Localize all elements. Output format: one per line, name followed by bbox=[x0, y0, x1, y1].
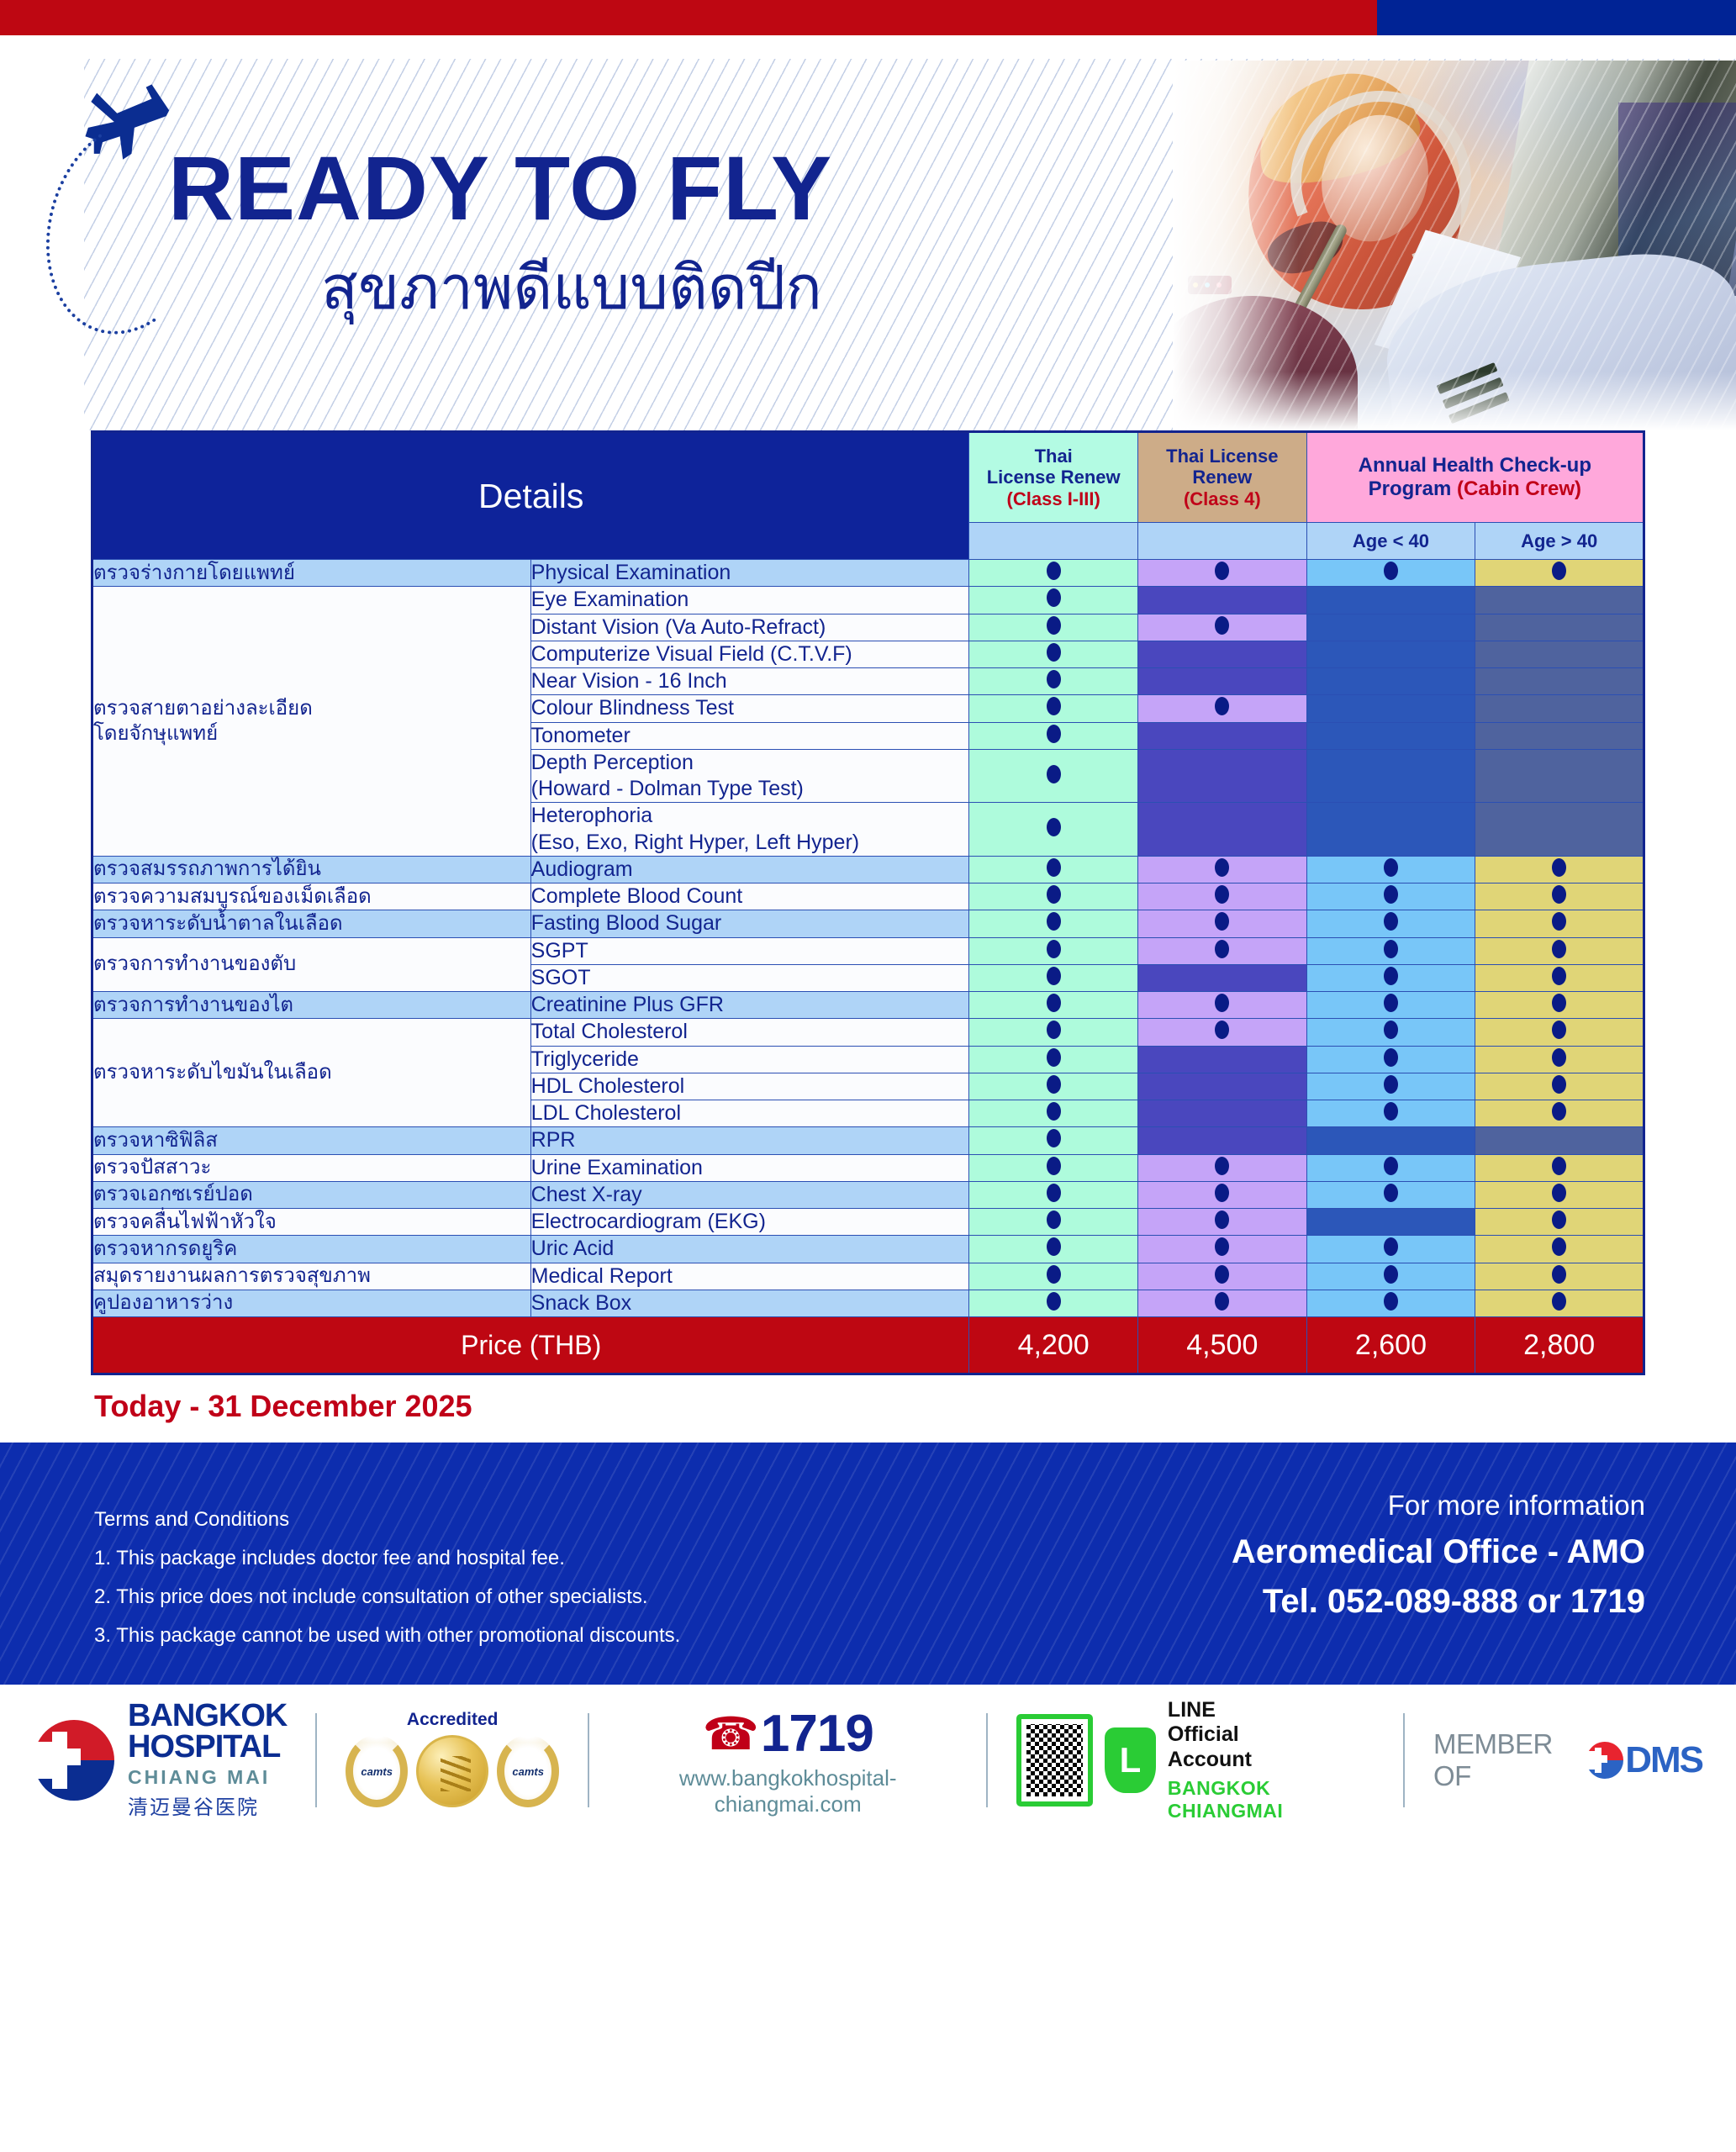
included-dot bbox=[969, 937, 1138, 964]
package-comparison-table: Details Thai License Renew (Class I-III)… bbox=[91, 430, 1645, 1375]
hospital-branch: CHIANG MAI bbox=[128, 1766, 287, 1789]
col-header-class1-3: Thai License Renew (Class I-III) bbox=[969, 432, 1138, 523]
included-dot bbox=[1138, 695, 1307, 722]
row-label-thai: ตรวจสายตาอย่างละเอียดโดยจักษุแพทย์ bbox=[92, 587, 531, 857]
row-label-thai: ตรวจการทำงานของไต bbox=[92, 992, 531, 1019]
not-included-cell bbox=[1306, 749, 1475, 803]
not-included-cell bbox=[1306, 1127, 1475, 1154]
price-age-over-40: 2,800 bbox=[1475, 1317, 1644, 1374]
not-included-cell bbox=[1138, 1127, 1307, 1154]
included-dot bbox=[1138, 992, 1307, 1019]
included-dot bbox=[969, 668, 1138, 695]
included-dot bbox=[969, 1046, 1138, 1073]
hospital-cross-icon bbox=[34, 1720, 114, 1801]
row-label-thai: ตรวจหากรดยูริค bbox=[92, 1236, 531, 1263]
included-dot bbox=[1306, 856, 1475, 883]
row-label-english: Heterophoria(Eso, Exo, Right Hyper, Left… bbox=[530, 803, 969, 857]
included-dot bbox=[1475, 1263, 1644, 1290]
included-dot bbox=[969, 695, 1138, 722]
row-label-english: Fasting Blood Sugar bbox=[530, 910, 969, 937]
included-dot bbox=[1138, 1209, 1307, 1236]
included-dot bbox=[1475, 560, 1644, 587]
phone-icon: ☎ bbox=[703, 1707, 759, 1760]
included-dot bbox=[969, 587, 1138, 614]
accredited-label: Accredited bbox=[407, 1710, 499, 1730]
included-dot bbox=[1475, 1154, 1644, 1181]
row-label-thai: ตรวจหาซิฟิลิส bbox=[92, 1127, 531, 1154]
included-dot bbox=[969, 749, 1138, 803]
terms-item: 2. This price does not include consultat… bbox=[94, 1585, 680, 1609]
page-subtitle-thai: สุขภาพดีแบบติดปีก bbox=[321, 256, 822, 322]
table-row: ตรวจการทำงานของตับSGPT bbox=[92, 937, 1644, 964]
table-row: ตรวจคลื่นไฟฟ้าหัวใจElectrocardiogram (EK… bbox=[92, 1209, 1644, 1236]
bdms-member-logo: MEMBER OF DMS bbox=[1433, 1728, 1702, 1792]
row-label-english: Physical Examination bbox=[530, 560, 969, 587]
col-header-class4: Thai License Renew (Class 4) bbox=[1138, 432, 1307, 523]
not-included-cell bbox=[1138, 722, 1307, 749]
table-row: ตรวจสายตาอย่างละเอียดโดยจักษุแพทย์Eye Ex… bbox=[92, 587, 1644, 614]
line-official-block[interactable]: L LINE Official Account BANGKOK CHIANGMA… bbox=[1016, 1698, 1375, 1823]
row-label-thai: ตรวจคลื่นไฟฟ้าหัวใจ bbox=[92, 1209, 531, 1236]
included-dot bbox=[1475, 1236, 1644, 1263]
hospital-name-line1: BANGKOK bbox=[128, 1701, 287, 1731]
col-subheader-blank-2 bbox=[1138, 523, 1307, 560]
top-color-bar bbox=[0, 0, 1736, 35]
included-dot bbox=[1475, 964, 1644, 991]
included-dot bbox=[1138, 1019, 1307, 1046]
row-label-english: HDL Cholesterol bbox=[530, 1073, 969, 1100]
included-dot bbox=[969, 1154, 1138, 1181]
included-dot bbox=[1306, 1100, 1475, 1127]
included-dot bbox=[1138, 883, 1307, 910]
included-dot bbox=[969, 1181, 1138, 1208]
line-label-line2: Official bbox=[1168, 1722, 1239, 1746]
row-label-english: LDL Cholesterol bbox=[530, 1100, 969, 1127]
footer-logo-strip: BANGKOK HOSPITAL CHIANG MAI 清迈曼谷医院 Accre… bbox=[0, 1685, 1736, 1836]
included-dot bbox=[1306, 1073, 1475, 1100]
included-dot bbox=[969, 1290, 1138, 1316]
included-dot bbox=[969, 992, 1138, 1019]
not-included-cell bbox=[1475, 614, 1644, 641]
included-dot bbox=[1138, 1236, 1307, 1263]
row-label-thai: ตรวจร่างกายโดยแพทย์ bbox=[92, 560, 531, 587]
row-label-english: Medical Report bbox=[530, 1263, 969, 1290]
office-name: Aeromedical Office - AMO bbox=[1232, 1533, 1645, 1571]
not-included-cell bbox=[1138, 964, 1307, 991]
row-label-thai: ตรวจหาระดับน้ำตาลในเลือด bbox=[92, 910, 531, 937]
hero-banner: READY TO FLY สุขภาพดีแบบติดปีก bbox=[0, 35, 1736, 430]
row-label-thai: สมุดรายงานผลการตรวจสุขภาพ bbox=[92, 1263, 531, 1290]
line-account-name: BANGKOK CHIANGMAI bbox=[1168, 1777, 1375, 1822]
included-dot bbox=[1306, 883, 1475, 910]
included-dot bbox=[1138, 1263, 1307, 1290]
package-table-wrap: Details Thai License Renew (Class I-III)… bbox=[0, 430, 1736, 1375]
row-label-thai: ตรวจสมรรถภาพการได้ยิน bbox=[92, 856, 531, 883]
included-dot bbox=[1475, 1181, 1644, 1208]
included-dot bbox=[969, 964, 1138, 991]
not-included-cell bbox=[1138, 1100, 1307, 1127]
table-row: ตรวจหาซิฟิลิสRPR bbox=[92, 1127, 1644, 1154]
included-dot bbox=[969, 641, 1138, 667]
not-included-cell bbox=[1138, 803, 1307, 857]
included-dot bbox=[1475, 883, 1644, 910]
pilot-photo bbox=[1173, 61, 1736, 430]
promotion-validity: Today - 31 December 2025 bbox=[0, 1375, 1736, 1424]
hotline-number[interactable]: 1719 bbox=[761, 1704, 873, 1764]
divider bbox=[986, 1713, 988, 1807]
included-dot bbox=[1475, 1209, 1644, 1236]
price-class4: 4,500 bbox=[1138, 1317, 1307, 1374]
included-dot bbox=[1138, 910, 1307, 937]
qr-code[interactable] bbox=[1016, 1714, 1093, 1807]
col-subheader-blank-1 bbox=[969, 523, 1138, 560]
table-row: ตรวจร่างกายโดยแพทย์Physical Examination bbox=[92, 560, 1644, 587]
not-included-cell bbox=[1475, 749, 1644, 803]
row-label-english: Near Vision - 16 Inch bbox=[530, 668, 969, 695]
not-included-cell bbox=[1475, 668, 1644, 695]
line-logo-icon: L bbox=[1105, 1727, 1156, 1793]
not-included-cell bbox=[1138, 749, 1307, 803]
footer-terms-contact: Terms and Conditions 1. This package inc… bbox=[0, 1443, 1736, 1685]
row-label-english: Urine Examination bbox=[530, 1154, 969, 1181]
included-dot bbox=[969, 883, 1138, 910]
price-class1-3: 4,200 bbox=[969, 1317, 1138, 1374]
bdms-wordmark: DMS bbox=[1625, 1739, 1702, 1781]
row-label-english: Electrocardiogram (EKG) bbox=[530, 1209, 969, 1236]
not-included-cell bbox=[1475, 722, 1644, 749]
row-label-thai: ตรวจความสมบูรณ์ของเม็ดเลือด bbox=[92, 883, 531, 910]
included-dot bbox=[969, 1100, 1138, 1127]
included-dot bbox=[1138, 856, 1307, 883]
not-included-cell bbox=[1475, 641, 1644, 667]
not-included-cell bbox=[1306, 614, 1475, 641]
row-label-english: Snack Box bbox=[530, 1290, 969, 1316]
hospital-name-chinese: 清迈曼谷医院 bbox=[128, 1791, 287, 1820]
row-label-english: Total Cholesterol bbox=[530, 1019, 969, 1046]
row-label-english: Audiogram bbox=[530, 856, 969, 883]
table-row: ตรวจเอกซเรย์ปอดChest X-ray bbox=[92, 1181, 1644, 1208]
terms-and-conditions: Terms and Conditions 1. This package inc… bbox=[94, 1508, 680, 1663]
row-label-thai: ตรวจเอกซเรย์ปอด bbox=[92, 1181, 531, 1208]
contact-block: For more information Aeromedical Office … bbox=[1232, 1490, 1645, 1632]
not-included-cell bbox=[1475, 1127, 1644, 1154]
row-label-english: Colour Blindness Test bbox=[530, 695, 969, 722]
included-dot bbox=[1475, 1073, 1644, 1100]
top-bar-blue bbox=[1377, 0, 1736, 35]
line-label-line3: Account bbox=[1168, 1748, 1252, 1771]
divider bbox=[588, 1713, 589, 1807]
bdms-cross-icon bbox=[1586, 1742, 1623, 1779]
included-dot bbox=[969, 722, 1138, 749]
terms-heading: Terms and Conditions bbox=[94, 1508, 680, 1532]
table-row: ตรวจหาระดับไขมันในเลือดTotal Cholesterol bbox=[92, 1019, 1644, 1046]
included-dot bbox=[1306, 910, 1475, 937]
row-label-english: RPR bbox=[530, 1127, 969, 1154]
table-row: ตรวจความสมบูรณ์ของเม็ดเลือดComplete Bloo… bbox=[92, 883, 1644, 910]
included-dot bbox=[969, 1127, 1138, 1154]
included-dot bbox=[1475, 856, 1644, 883]
row-label-english: Complete Blood Count bbox=[530, 883, 969, 910]
not-included-cell bbox=[1138, 668, 1307, 695]
table-row: คูปองอาหารว่างSnack Box bbox=[92, 1290, 1644, 1316]
top-bar-red bbox=[0, 0, 1377, 35]
included-dot bbox=[1138, 1290, 1307, 1316]
accreditation-badges: Accredited camts camts bbox=[346, 1713, 559, 1807]
included-dot bbox=[1306, 964, 1475, 991]
not-included-cell bbox=[1138, 641, 1307, 667]
included-dot bbox=[1475, 1046, 1644, 1073]
col-header-cabin-crew: Annual Health Check-up Program (Cabin Cr… bbox=[1306, 432, 1644, 523]
included-dot bbox=[969, 1209, 1138, 1236]
table-row: ตรวจการทำงานของไตCreatinine Plus GFR bbox=[92, 992, 1644, 1019]
included-dot bbox=[969, 1263, 1138, 1290]
col-subheader-age-over-40: Age > 40 bbox=[1475, 523, 1644, 560]
included-dot bbox=[1475, 1019, 1644, 1046]
included-dot bbox=[969, 856, 1138, 883]
row-label-thai: ตรวจปัสสาวะ bbox=[92, 1154, 531, 1181]
included-dot bbox=[1138, 614, 1307, 641]
not-included-cell bbox=[1306, 668, 1475, 695]
website-url[interactable]: www.bangkokhospital-chiangmai.com bbox=[618, 1765, 958, 1817]
camts-wreath-icon: camts bbox=[497, 1735, 559, 1807]
hotline-block: ☎ 1719 www.bangkokhospital-chiangmai.com bbox=[618, 1704, 958, 1817]
not-included-cell bbox=[1306, 1209, 1475, 1236]
row-label-english: Tonometer bbox=[530, 722, 969, 749]
not-included-cell bbox=[1138, 587, 1307, 614]
included-dot bbox=[1138, 1154, 1307, 1181]
office-telephone[interactable]: Tel. 052-089-888 or 1719 bbox=[1232, 1583, 1645, 1621]
table-row: สมุดรายงานผลการตรวจสุขภาพMedical Report bbox=[92, 1263, 1644, 1290]
not-included-cell bbox=[1306, 641, 1475, 667]
included-dot bbox=[1475, 1290, 1644, 1316]
row-label-thai: คูปองอาหารว่าง bbox=[92, 1290, 531, 1316]
row-label-english: SGPT bbox=[530, 937, 969, 964]
terms-item: 1. This package includes doctor fee and … bbox=[94, 1547, 680, 1570]
not-included-cell bbox=[1306, 587, 1475, 614]
col-subheader-age-under-40: Age < 40 bbox=[1306, 523, 1475, 560]
not-included-cell bbox=[1475, 587, 1644, 614]
included-dot bbox=[1306, 992, 1475, 1019]
price-label: Price (THB) bbox=[92, 1317, 969, 1374]
included-dot bbox=[1138, 560, 1307, 587]
included-dot bbox=[1306, 937, 1475, 964]
table-row: ตรวจหากรดยูริคUric Acid bbox=[92, 1236, 1644, 1263]
table-foot: Price (THB) 4,200 4,500 2,600 2,800 bbox=[92, 1317, 1644, 1374]
row-label-english: Depth Perception(Howard - Dolman Type Te… bbox=[530, 749, 969, 803]
included-dot bbox=[1138, 937, 1307, 964]
included-dot bbox=[969, 1019, 1138, 1046]
row-label-thai: ตรวจหาระดับไขมันในเลือด bbox=[92, 1019, 531, 1127]
table-row: ตรวจสมรรถภาพการได้ยินAudiogram bbox=[92, 856, 1644, 883]
hospital-name-line2: HOSPITAL bbox=[128, 1731, 287, 1763]
included-dot bbox=[969, 1236, 1138, 1263]
table-row: ตรวจปัสสาวะUrine Examination bbox=[92, 1154, 1644, 1181]
included-dot bbox=[969, 910, 1138, 937]
not-included-cell bbox=[1138, 1046, 1307, 1073]
terms-item: 3. This package cannot be used with othe… bbox=[94, 1624, 680, 1648]
not-included-cell bbox=[1306, 803, 1475, 857]
included-dot bbox=[1306, 1181, 1475, 1208]
table-head: Details Thai License Renew (Class I-III)… bbox=[92, 432, 1644, 560]
row-label-english: Chest X-ray bbox=[530, 1181, 969, 1208]
jci-gold-seal-icon bbox=[416, 1735, 488, 1807]
included-dot bbox=[969, 614, 1138, 641]
line-label-line1: LINE bbox=[1168, 1698, 1216, 1722]
camts-wreath-icon: camts bbox=[346, 1735, 408, 1807]
included-dot bbox=[969, 1073, 1138, 1100]
row-label-english: Triglyceride bbox=[530, 1046, 969, 1073]
row-label-english: Distant Vision (Va Auto-Refract) bbox=[530, 614, 969, 641]
member-of-label: MEMBER OF bbox=[1433, 1728, 1578, 1792]
included-dot bbox=[1475, 992, 1644, 1019]
included-dot bbox=[1306, 1290, 1475, 1316]
divider bbox=[1403, 1713, 1405, 1807]
included-dot bbox=[1306, 560, 1475, 587]
not-included-cell bbox=[1306, 695, 1475, 722]
included-dot bbox=[969, 803, 1138, 857]
included-dot bbox=[969, 560, 1138, 587]
not-included-cell bbox=[1475, 695, 1644, 722]
included-dot bbox=[1306, 1263, 1475, 1290]
not-included-cell bbox=[1306, 722, 1475, 749]
page-title: READY TO FLY bbox=[168, 143, 832, 234]
table-row: ตรวจหาระดับน้ำตาลในเลือดFasting Blood Su… bbox=[92, 910, 1644, 937]
more-info-label: For more information bbox=[1232, 1490, 1645, 1522]
row-label-english: Eye Examination bbox=[530, 587, 969, 614]
details-header: Details bbox=[92, 432, 969, 560]
row-label-english: Uric Acid bbox=[530, 1236, 969, 1263]
included-dot bbox=[1475, 937, 1644, 964]
bangkok-hospital-logo: BANGKOK HOSPITAL CHIANG MAI 清迈曼谷医院 bbox=[34, 1701, 287, 1820]
row-label-english: Creatinine Plus GFR bbox=[530, 992, 969, 1019]
row-label-english: Computerize Visual Field (C.T.V.F) bbox=[530, 641, 969, 667]
included-dot bbox=[1306, 1154, 1475, 1181]
divider bbox=[315, 1713, 317, 1807]
included-dot bbox=[1306, 1046, 1475, 1073]
row-label-thai: ตรวจการทำงานของตับ bbox=[92, 937, 531, 992]
not-included-cell bbox=[1475, 803, 1644, 857]
price-age-under-40: 2,600 bbox=[1306, 1317, 1475, 1374]
included-dot bbox=[1306, 1019, 1475, 1046]
not-included-cell bbox=[1138, 1073, 1307, 1100]
table-body: ตรวจร่างกายโดยแพทย์Physical Examinationต… bbox=[92, 560, 1644, 1317]
row-label-english: SGOT bbox=[530, 964, 969, 991]
included-dot bbox=[1306, 1236, 1475, 1263]
included-dot bbox=[1475, 1100, 1644, 1127]
included-dot bbox=[1138, 1181, 1307, 1208]
included-dot bbox=[1475, 910, 1644, 937]
